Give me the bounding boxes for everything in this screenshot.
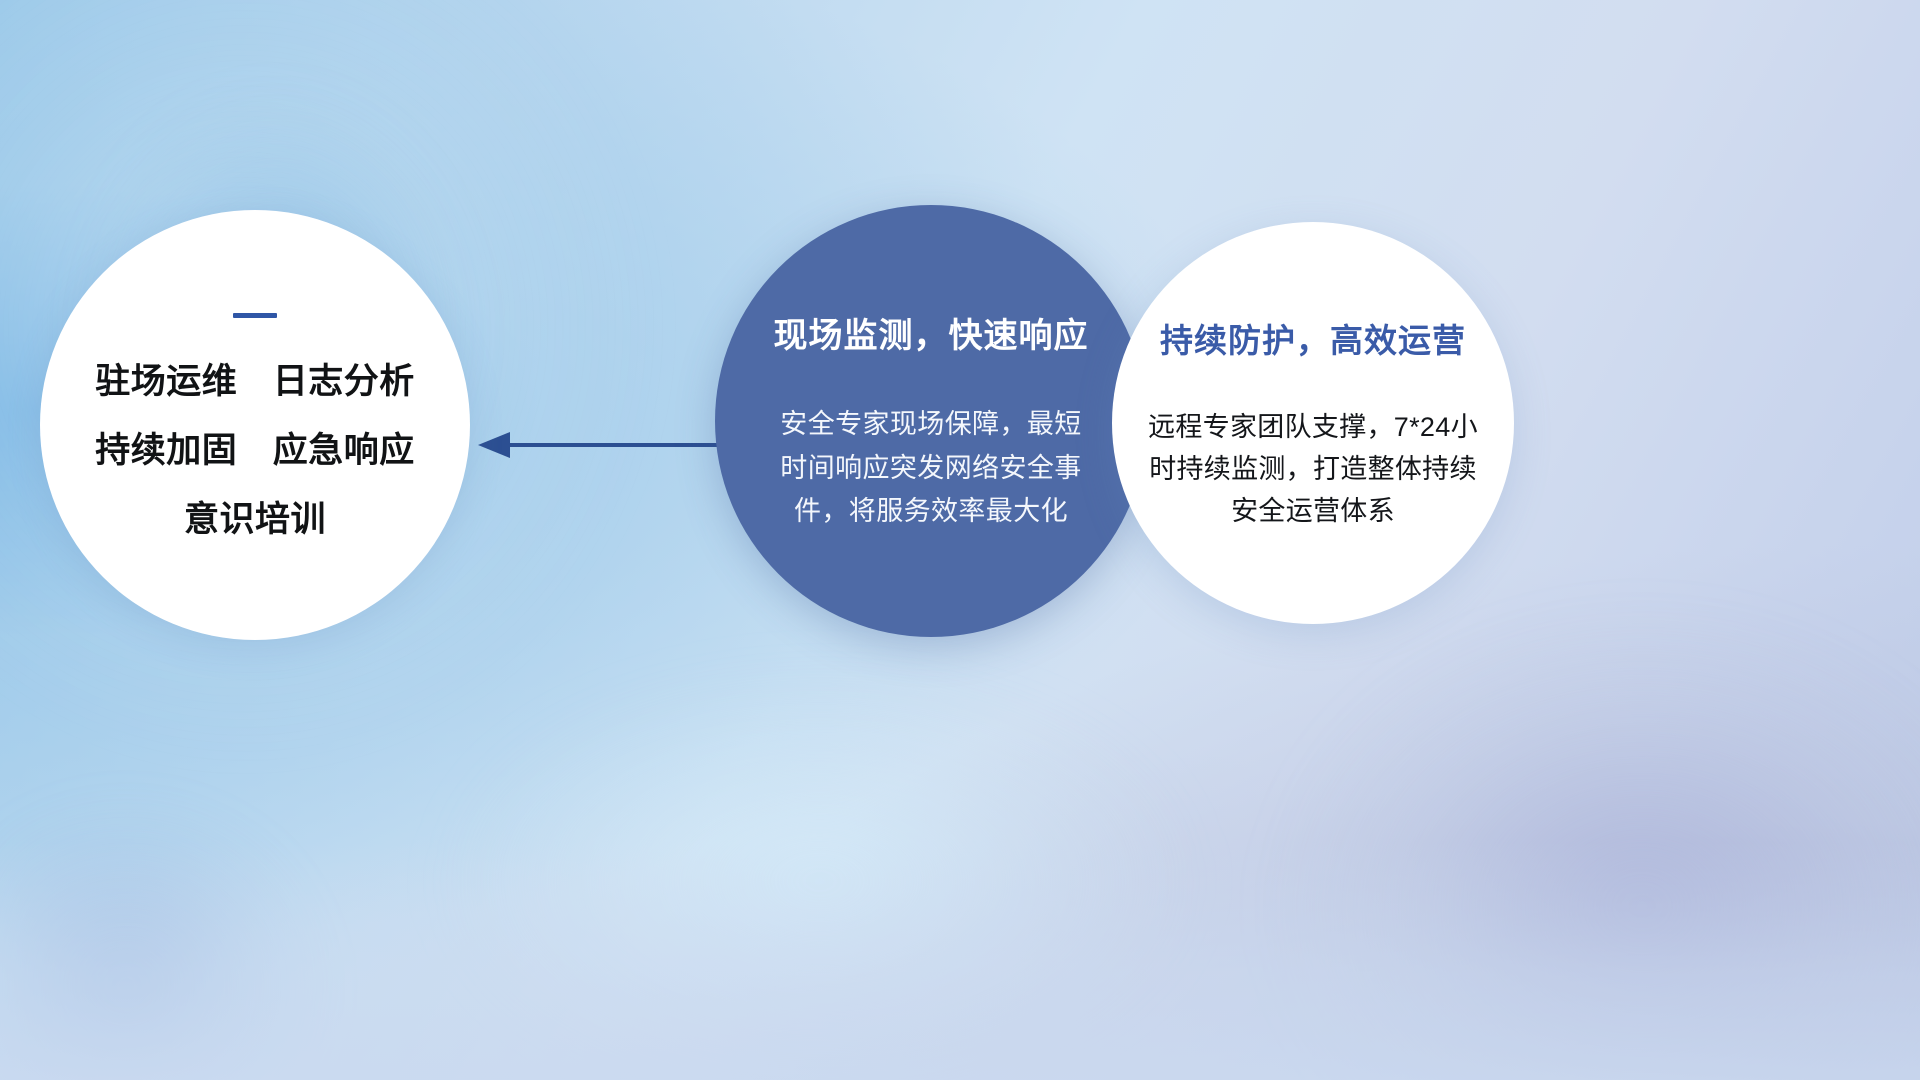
keyword-line-1: 驻场运维 日志分析 [95, 364, 415, 399]
field-monitor-body: 安全专家现场保障，最短时间响应突发网络安全事件，将服务效率最大化 [771, 403, 1091, 534]
keyword-line-2: 持续加固 应急响应 [95, 433, 415, 468]
continuous-ops-circle: 持续防护，高效运营 远程专家团队支撑，7*24小时持续监测，打造整体持续安全运营… [1112, 222, 1514, 624]
flow-arrow-left [470, 410, 730, 480]
continuous-ops-headline: 持续防护，高效运营 [1160, 314, 1466, 362]
onsite-ops-circle: 驻场运维 日志分析 持续加固 应急响应 意识培训 [40, 210, 470, 640]
field-monitor-circle: 现场监测，快速响应 安全专家现场保障，最短时间响应突发网络安全事件，将服务效率最… [715, 205, 1147, 637]
arrow-shaft-and-head [478, 432, 726, 458]
background-bottom-veil [0, 842, 1920, 1080]
field-monitor-headline: 现场监测，快速响应 [774, 308, 1089, 357]
divider-dash-icon [233, 313, 277, 318]
keyword-line-3: 意识培训 [184, 502, 326, 537]
continuous-ops-body: 远程专家团队支撑，7*24小时持续监测，打造整体持续安全运营体系 [1137, 406, 1489, 532]
